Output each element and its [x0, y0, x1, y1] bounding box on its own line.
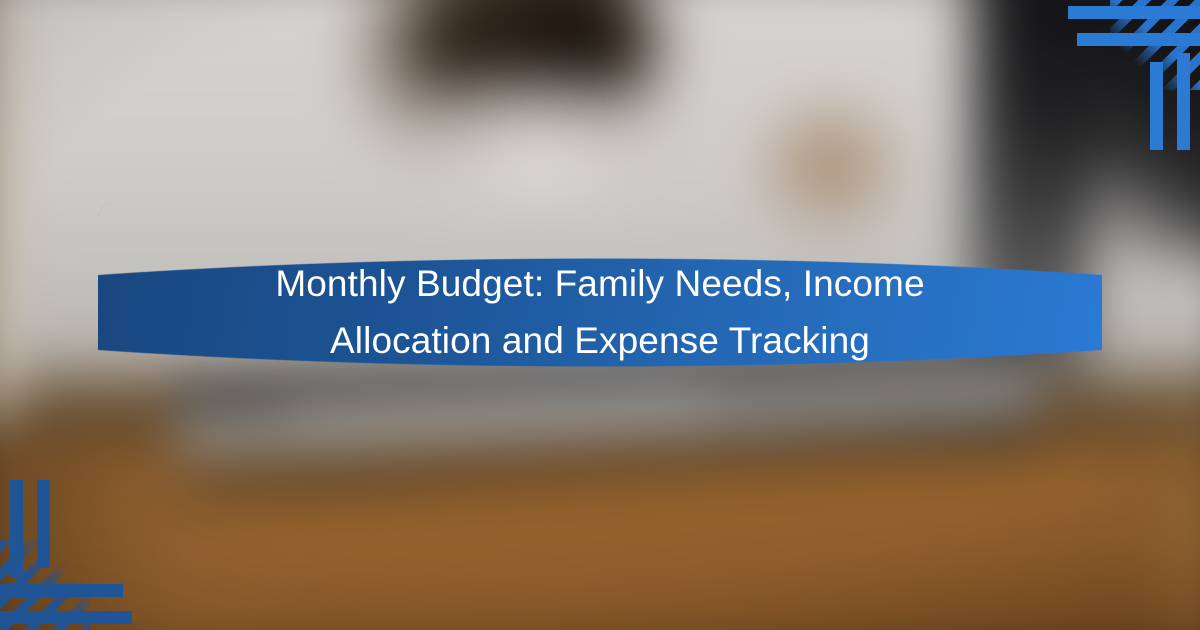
social-card: Monthly Budget: Family Needs, Income All…	[0, 0, 1200, 630]
title-banner: Monthly Budget: Family Needs, Income All…	[98, 203, 1102, 422]
corner-accent-top-right	[1040, 0, 1200, 155]
corner-accent-bottom-left	[0, 475, 160, 630]
page-title: Monthly Budget: Family Needs, Income All…	[220, 256, 980, 368]
accent-hatch-stripes	[1110, 0, 1200, 90]
accent-hatch-stripes	[0, 540, 90, 630]
